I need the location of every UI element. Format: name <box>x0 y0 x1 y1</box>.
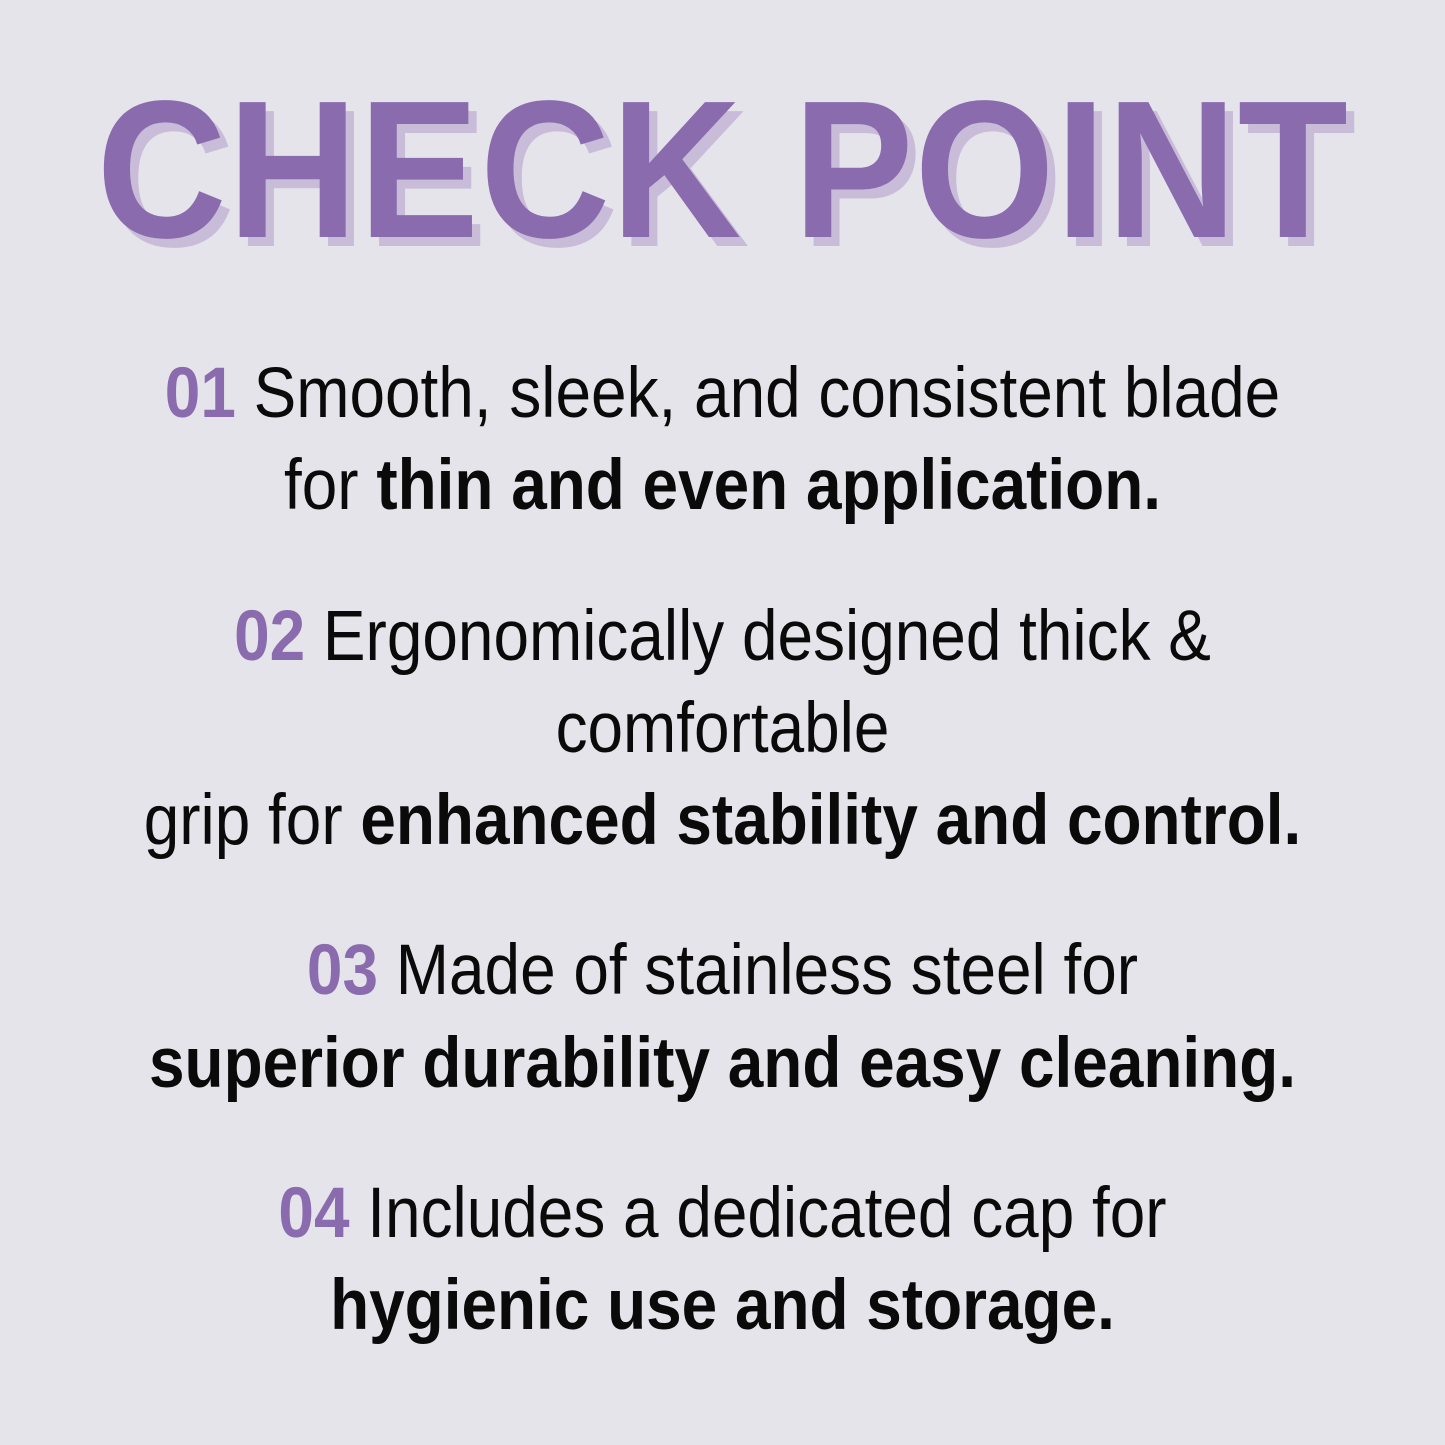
checkpoint-line-1: 04 Includes a dedicated cap for <box>78 1168 1368 1260</box>
checkpoint-text-03-line1: Made of stainless steel for <box>378 931 1138 1010</box>
checkpoint-text-03-line2-bold: superior durability and easy cleaning. <box>149 1024 1296 1103</box>
checkpoint-text-01-line2-bold: thin and even application. <box>376 446 1161 525</box>
checkpoint-text-02-line1: Ergonomically designed thick & comfortab… <box>305 597 1211 768</box>
checkpoint-item-04: 04 Includes a dedicated cap for hygienic… <box>72 1168 1373 1353</box>
checkpoint-number-01: 01 <box>165 354 236 433</box>
checkpoint-line-2: hygienic use and storage. <box>78 1260 1368 1352</box>
checkpoint-line-1: 01 Smooth, sleek, and consistent blade <box>78 348 1368 440</box>
checkpoint-number-04: 04 <box>278 1174 349 1253</box>
checkpoint-text-04-line1: Includes a dedicated cap for <box>350 1174 1167 1253</box>
checkpoint-item-01: 01 Smooth, sleek, and consistent blade f… <box>72 348 1373 533</box>
checkpoint-line-1: 03 Made of stainless steel for <box>78 925 1368 1017</box>
checkpoint-text-02-line2-bold: enhanced stability and control. <box>360 781 1301 860</box>
checkpoint-item-03: 03 Made of stainless steel for superior … <box>72 925 1373 1110</box>
checkpoint-line-1: 02 Ergonomically designed thick & comfor… <box>78 591 1368 776</box>
checkpoint-item-02: 02 Ergonomically designed thick & comfor… <box>72 591 1373 868</box>
checkpoint-line-2: superior durability and easy cleaning. <box>78 1018 1368 1110</box>
page-title: CHECK POINT <box>96 72 1348 268</box>
checkpoint-line-2: grip for enhanced stability and control. <box>78 775 1368 867</box>
checkpoint-poster: CHECK POINT 01 Smooth, sleek, and consis… <box>0 0 1445 1445</box>
checkpoint-text-04-line2-bold: hygienic use and storage. <box>330 1266 1115 1345</box>
poster-header: CHECK POINT <box>0 72 1445 252</box>
checkpoint-text-02-line2-normal: grip for <box>144 781 361 860</box>
checkpoint-number-02: 02 <box>234 597 305 676</box>
checkpoint-number-03: 03 <box>307 931 378 1010</box>
checkpoint-list: 01 Smooth, sleek, and consistent blade f… <box>0 348 1445 1353</box>
checkpoint-text-01-line1: Smooth, sleek, and consistent blade <box>236 354 1280 433</box>
checkpoint-line-2: for thin and even application. <box>78 440 1368 532</box>
checkpoint-text-01-line2-normal: for <box>284 446 376 525</box>
